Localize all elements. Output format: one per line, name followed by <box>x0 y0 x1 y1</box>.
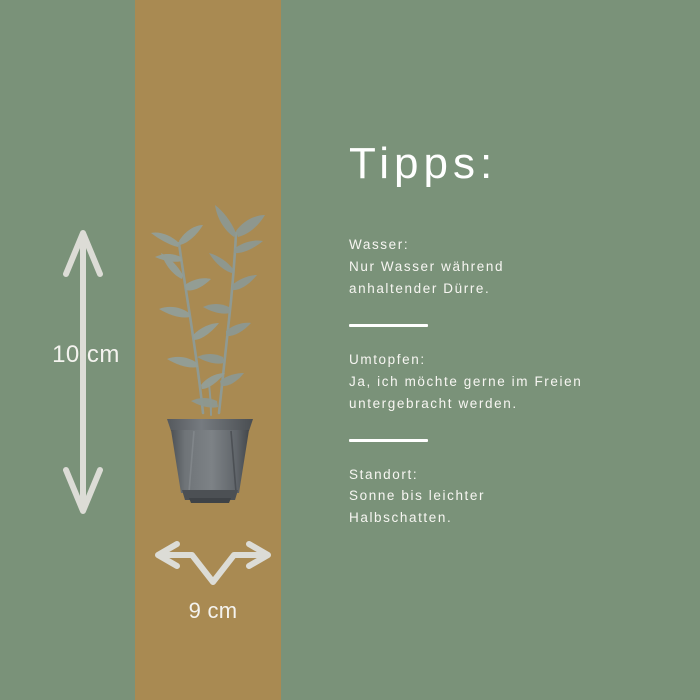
tip-block-wasser: Wasser: Nur Wasser während anhaltender D… <box>349 234 667 300</box>
tip-block-standort: Standort: Sonne bis leichter Halbschatte… <box>349 464 667 530</box>
tip-body: Sonne bis leichter Halbschatten. <box>349 485 667 529</box>
tip-body: Nur Wasser während anhaltender Dürre. <box>349 256 667 300</box>
tip-heading: Standort: <box>349 464 667 486</box>
height-label: 10 cm <box>24 341 148 369</box>
tip-divider-2 <box>349 439 428 442</box>
product-info-card: 10 cm 9 cm <box>0 0 700 700</box>
tip-block-umtopfen: Umtopfen: Ja, ich möchte gerne im Freien… <box>349 349 667 415</box>
tip-body: Ja, ich möchte gerne im Freien untergebr… <box>349 371 667 415</box>
width-measurement-arrow <box>152 536 274 590</box>
width-label: 9 cm <box>150 598 276 624</box>
tip-heading: Wasser: <box>349 234 667 256</box>
tips-panel: Tipps: Wasser: Nur Wasser während anhalt… <box>349 140 667 529</box>
double-headed-vertical-arrow-icon <box>55 222 125 522</box>
height-measurement-arrow <box>55 222 125 522</box>
potted-plant-photo <box>145 185 275 505</box>
tips-title: Tipps: <box>349 140 667 188</box>
tip-heading: Umtopfen: <box>349 349 667 371</box>
tip-divider-1 <box>349 324 428 327</box>
double-headed-horizontal-arrow-icon <box>152 536 274 590</box>
